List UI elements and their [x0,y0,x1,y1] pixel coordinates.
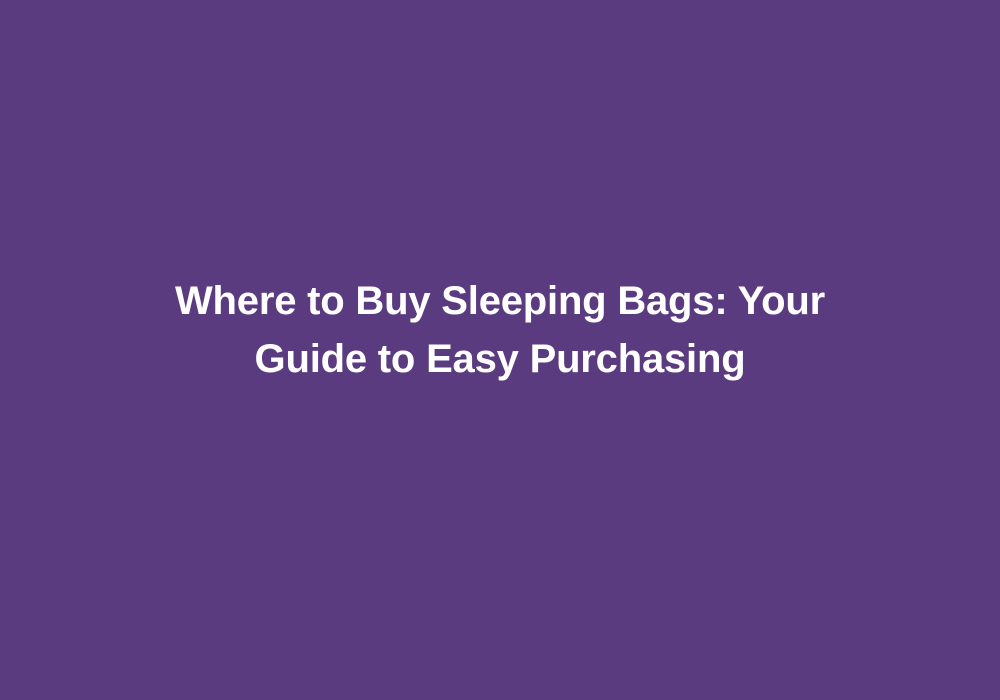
page-title: Where to Buy Sleeping Bags: Your Guide t… [120,272,880,388]
title-card: Where to Buy Sleeping Bags: Your Guide t… [0,0,1000,700]
title-block: Where to Buy Sleeping Bags: Your Guide t… [100,272,900,388]
